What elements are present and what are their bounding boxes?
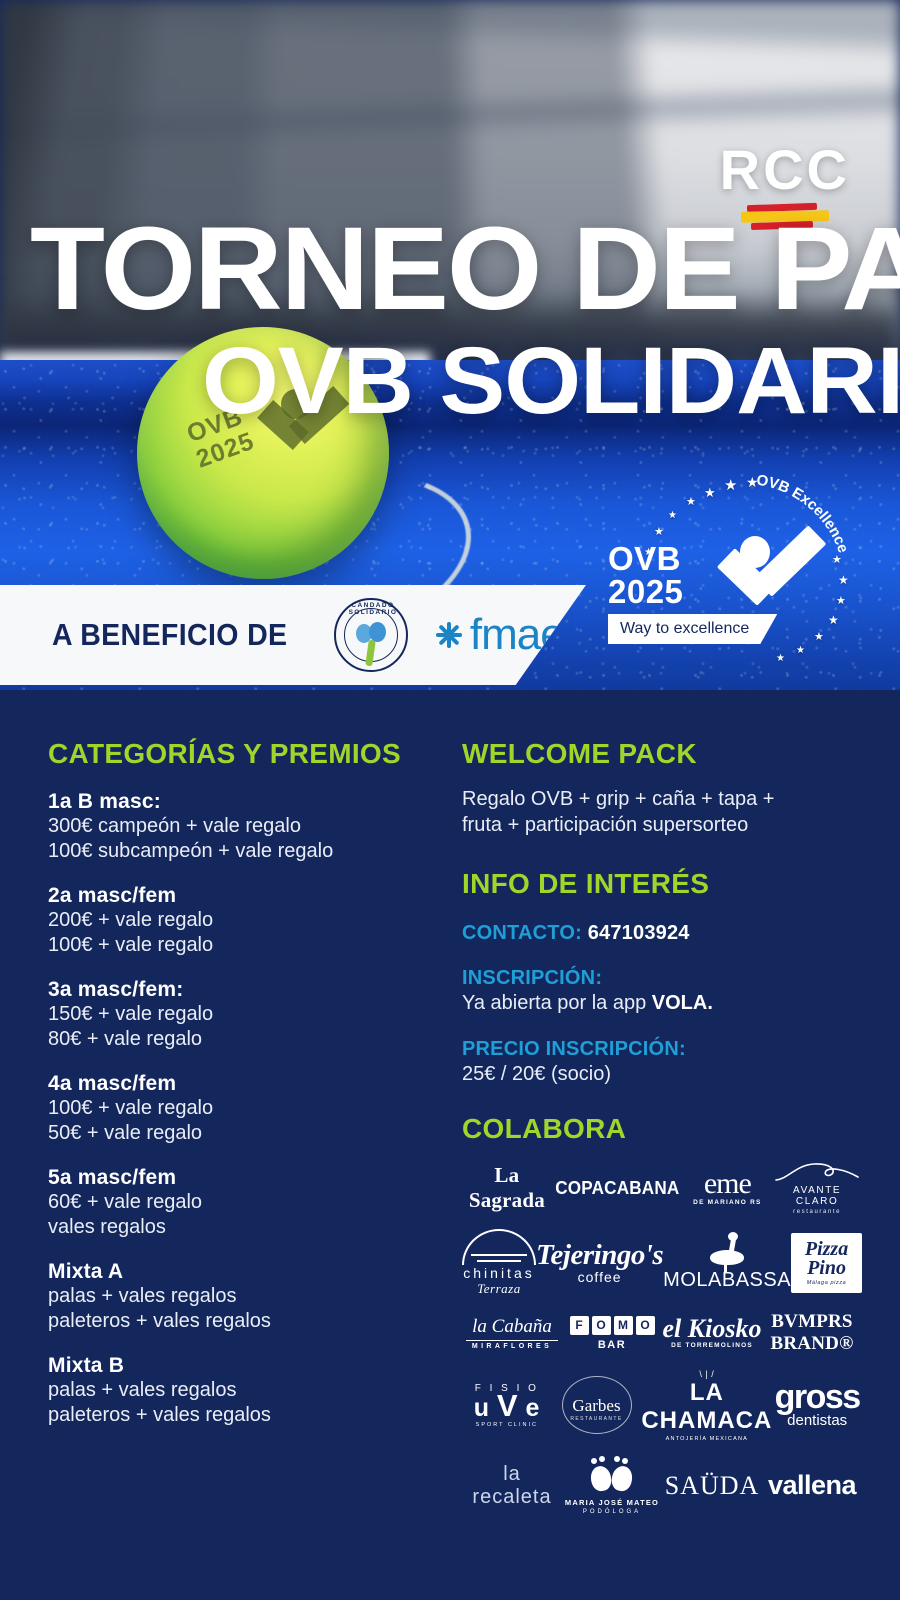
sponsor-name: LA CHAMACA <box>641 1379 772 1435</box>
category-block: 2a masc/fem 200€ + vale regalo 100€ + va… <box>48 884 448 958</box>
ovb-badge-ribbon: Way to excellence <box>608 614 777 644</box>
ovb-badge-text: OVB 2025 <box>608 542 683 608</box>
sponsor-logo-box: Pizza Pino Málaga pizza <box>791 1233 862 1293</box>
sponsor-subtitle: SPORT CLINIC <box>462 1422 552 1428</box>
category-block: 3a masc/fem: 150€ + vale regalo 80€ + va… <box>48 978 448 1052</box>
sponsor-logo-ring: Garbes RESTAURANTE <box>557 1376 637 1436</box>
category-block: Mixta A palas + vales regalos paleteros … <box>48 1260 448 1334</box>
welcome-pack-line1: Regalo OVB + grip + caña + tapa + <box>462 786 862 812</box>
balloon-icon-right <box>369 622 386 642</box>
info-column: WELCOME PACK Regalo OVB + grip + caña + … <box>462 738 862 1529</box>
ovb-badge-name: OVB <box>608 542 683 575</box>
ovb-excellence-badge: OVB Excellence ★ ★ ★ ★ ★ ★ ★ ★ ★ ★ ★ ★ ★… <box>600 456 870 681</box>
category-prize-line: 50€ + vale regalo <box>48 1121 448 1146</box>
ovb-logo-mark-icon <box>712 536 818 626</box>
beneficiary-banner: A BENEFICIO DE CANDADO SOLIDARIO fmaec <box>0 585 586 685</box>
categories-column: CATEGORÍAS Y PREMIOS 1a B masc: 300€ cam… <box>48 738 448 1428</box>
sponsor-name: el Kiosko <box>662 1317 762 1341</box>
sponsor-subtitle: DE TORREMOLINOS <box>662 1342 762 1349</box>
sponsor-name: eme <box>682 1170 772 1198</box>
sponsor-copacabana[interactable]: COPACABANA <box>552 1178 683 1199</box>
sponsor-name: SAÜDA <box>662 1471 762 1501</box>
category-name: 4a masc/fem <box>48 1072 448 1096</box>
sponsor-subtitle: PODÓLOGA <box>562 1509 662 1515</box>
beneficiary-label: A BENEFICIO DE <box>52 617 287 653</box>
sponsor-la-chamaca[interactable]: \ | / LA CHAMACA ANTOJERÍA MEXICANA <box>641 1369 772 1442</box>
sponsor-subtitle: coffee <box>536 1269 663 1285</box>
precio-label: PRECIO INSCRIPCIÓN: <box>462 1038 862 1061</box>
content-section: CATEGORÍAS Y PREMIOS 1a B masc: 300€ cam… <box>0 690 900 1600</box>
sponsor-chinitas-terraza[interactable]: chinitas Terraza <box>462 1229 536 1297</box>
sponsor-name: La Sagrada <box>462 1163 552 1213</box>
sponsor-garbes[interactable]: Garbes RESTAURANTE <box>552 1376 642 1436</box>
sponsor-bvmprs-brand[interactable]: BVMPRS BRAND® <box>762 1311 862 1355</box>
hero-section: OVB2025 RCC TORNEO DE PADEL OVB SOLIDARI… <box>0 0 900 690</box>
sponsor-fisio-uve[interactable]: F I S I O u V e SPORT CLINIC <box>462 1383 552 1428</box>
inscripcion-value-text: Ya abierta por la app <box>462 992 652 1014</box>
colabora-heading: COLABORA <box>462 1113 862 1145</box>
divider <box>466 1340 558 1341</box>
contacto-label-text: CONTACTO: <box>462 922 582 944</box>
category-prize-line: 100€ subcampeón + vale regalo <box>48 839 448 864</box>
category-prize-line: palas + vales regalos <box>48 1378 448 1403</box>
sponsor-subtitle: RESTAURANTE <box>557 1416 637 1422</box>
category-prize-line: 150€ + vale regalo <box>48 1002 448 1027</box>
sponsor-fomo-bar[interactable]: FOMO BAR <box>562 1316 662 1351</box>
category-block: 1a B masc: 300€ campeón + vale regalo 10… <box>48 790 448 864</box>
category-block: 4a masc/fem 100€ + vale regalo 50€ + val… <box>48 1072 448 1146</box>
flamingo-icon <box>704 1234 750 1268</box>
burst-icon: \ | / <box>641 1369 772 1379</box>
sponsor-avante-claro[interactable]: AVANTE CLARO restaurante <box>772 1161 862 1215</box>
fomo-tiles-icon: FOMO <box>562 1316 662 1335</box>
category-prize-line: paleteros + vales regalos <box>48 1309 448 1334</box>
footprints-icon <box>588 1456 636 1496</box>
sponsor-subtitle: restaurante <box>772 1209 862 1215</box>
sponsor-name: gross <box>772 1382 862 1412</box>
category-prize-line: 200€ + vale regalo <box>48 908 448 933</box>
sponsor-name: Garbes <box>557 1396 637 1416</box>
sponsor-la-sagrada[interactable]: La Sagrada <box>462 1163 552 1213</box>
sponsor-name: MOLABASSA <box>663 1269 791 1292</box>
sponsor-row: F I S I O u V e SPORT CLINIC Garbes REST… <box>462 1369 862 1442</box>
colabora-section: COLABORA La Sagrada COPACABANA eme DE MA… <box>462 1113 862 1515</box>
inscripcion-app-name[interactable]: VOLA. <box>652 992 713 1014</box>
category-name: 3a masc/fem: <box>48 978 448 1002</box>
welcome-pack-line2: fruta + participación supersorteo <box>462 812 862 838</box>
sponsor-el-kiosko[interactable]: el Kiosko DE TORREMOLINOS <box>662 1317 762 1349</box>
category-name: 1a B masc: <box>48 790 448 814</box>
sponsor-row: La Sagrada COPACABANA eme DE MARIANO RS … <box>462 1161 862 1215</box>
category-block: 5a masc/fem 60€ + vale regalo vales rega… <box>48 1166 448 1240</box>
sponsor-subtitle: MIRAFLORES <box>462 1343 562 1350</box>
precio-block: PRECIO INSCRIPCIÓN: 25€ / 20€ (socio) <box>462 1038 862 1087</box>
green-ribbon-icon <box>365 640 376 667</box>
inscripcion-value: Ya abierta por la app VOLA. <box>462 990 862 1016</box>
sponsor-subtitle: DE MARIANO RS <box>682 1199 772 1206</box>
contacto-block: CONTACTO: 647103924 <box>462 922 862 945</box>
category-prize-line: palas + vales regalos <box>48 1284 448 1309</box>
sponsor-name: la recaleta <box>462 1463 562 1509</box>
welcome-pack-heading: WELCOME PACK <box>462 738 862 770</box>
sponsor-gross-dentistas[interactable]: gross dentistas <box>772 1382 862 1429</box>
category-name: Mixta A <box>48 1260 448 1284</box>
sponsor-la-cabana-miraflores[interactable]: la Cabaña MIRAFLORES <box>462 1316 562 1350</box>
contacto-value[interactable]: 647103924 <box>588 922 690 944</box>
sponsor-subtitle: BAR <box>562 1339 662 1351</box>
category-prize-line: 300€ campeón + vale regalo <box>48 814 448 839</box>
sponsor-name: Tejeringo's <box>536 1241 663 1269</box>
sunset-arc-icon <box>462 1229 536 1265</box>
sponsor-name: COPACABANA <box>555 1178 679 1199</box>
sponsor-subtitle: ANTOJERÍA MEXICANA <box>641 1436 772 1442</box>
fmaec-burst-icon <box>434 620 464 650</box>
sponsor-name: la Cabaña <box>462 1316 562 1338</box>
candado-solidario-logo: CANDADO SOLIDARIO <box>334 598 408 672</box>
sponsor-subtitle: Málaga pizza <box>800 1280 853 1286</box>
sponsor-name: u V e <box>462 1394 552 1420</box>
welcome-pack-body: Regalo OVB + grip + caña + tapa + fruta … <box>462 786 862 838</box>
candado-logo-ring-text: CANDADO SOLIDARIO <box>336 602 410 618</box>
sponsor-pizza-pino[interactable]: Pizza Pino Málaga pizza <box>791 1233 862 1293</box>
sponsor-subtitle: Terraza <box>462 1281 536 1297</box>
page-title-line2: OVB SOLIDARIO <box>202 337 900 425</box>
category-block: Mixta B palas + vales regalos paleteros … <box>48 1354 448 1428</box>
sponsor-name: BVMPRS BRAND® <box>762 1311 862 1355</box>
category-name: 5a masc/fem <box>48 1166 448 1190</box>
category-prize-line: 80€ + vale regalo <box>48 1027 448 1052</box>
sponsor-vallena[interactable]: vallena <box>762 1470 862 1501</box>
sponsor-sauda[interactable]: SAÜDA <box>662 1471 762 1501</box>
sponsor-maria-jose-mateo[interactable]: MARIA JOSÉ MATEO PODÓLOGA <box>562 1456 662 1515</box>
category-prize-line: paleteros + vales regalos <box>48 1403 448 1428</box>
sponsor-name: MARIA JOSÉ MATEO <box>562 1498 662 1507</box>
category-prize-line: 100€ + vale regalo <box>48 933 448 958</box>
category-name: Mixta B <box>48 1354 448 1378</box>
sponsor-tejeringos-coffee[interactable]: Tejeringo's coffee <box>536 1241 663 1285</box>
contacto-label: CONTACTO: 647103924 <box>462 922 862 945</box>
info-heading: INFO DE INTERÉS <box>462 868 862 900</box>
sponsor-name: chinitas <box>462 1265 536 1281</box>
sponsor-molabassa[interactable]: MOLABASSA <box>663 1234 791 1292</box>
precio-value: 25€ / 20€ (socio) <box>462 1061 862 1087</box>
ovb-badge-year: 2025 <box>608 575 683 608</box>
poster-root: OVB2025 RCC TORNEO DE PADEL OVB SOLIDARI… <box>0 0 900 1600</box>
sponsor-row: la Cabaña MIRAFLORES FOMO BAR el Kiosko … <box>462 1311 862 1355</box>
page-title-line1: TORNEO DE PADEL <box>30 215 900 323</box>
sponsor-la-recaleta[interactable]: la recaleta <box>462 1463 562 1509</box>
category-prize-line: 100€ + vale regalo <box>48 1096 448 1121</box>
inscripcion-block: INSCRIPCIÓN: Ya abierta por la app VOLA. <box>462 967 862 1016</box>
sponsor-row: chinitas Terraza Tejeringo's coffee MOLA… <box>462 1229 862 1297</box>
category-prize-line: 60€ + vale regalo <box>48 1190 448 1215</box>
category-name: 2a masc/fem <box>48 884 448 908</box>
sponsor-name: Pizza Pino <box>800 1240 853 1278</box>
inscripcion-label: INSCRIPCIÓN: <box>462 967 862 990</box>
sponsor-row: la recaleta MARIA JOSÉ MATEO PODÓLOGA SA… <box>462 1456 862 1515</box>
sponsor-name: AVANTE CLARO <box>772 1185 862 1207</box>
categories-heading: CATEGORÍAS Y PREMIOS <box>48 738 448 770</box>
sponsor-name: vallena <box>762 1470 862 1501</box>
category-prize-line: vales regalos <box>48 1215 448 1240</box>
wave-icon <box>774 1161 860 1183</box>
sponsor-eme[interactable]: eme DE MARIANO RS <box>682 1170 772 1206</box>
